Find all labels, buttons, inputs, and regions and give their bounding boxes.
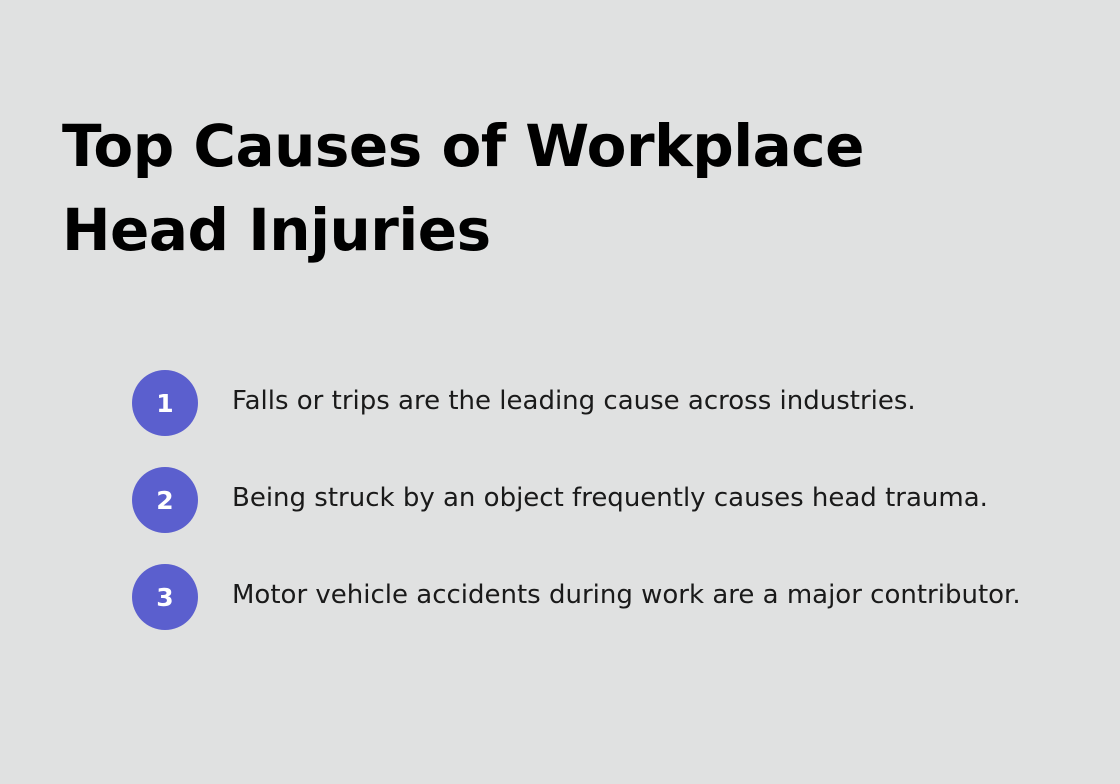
title-block: Top Causes of Workplace Head Injuries	[62, 104, 1062, 272]
point-number-badge: 3	[132, 564, 198, 630]
list-item: 2 Being struck by an object frequently c…	[132, 467, 1052, 533]
point-text: Motor vehicle accidents during work are …	[232, 564, 1022, 617]
point-number-badge: 1	[132, 370, 198, 436]
slide-canvas: Top Causes of Workplace Head Injuries 1 …	[0, 0, 1120, 784]
numbered-points-list: 1 Falls or trips are the leading cause a…	[132, 370, 1052, 630]
list-item: 3 Motor vehicle accidents during work ar…	[132, 564, 1052, 630]
point-text: Falls or trips are the leading cause acr…	[232, 370, 1022, 423]
point-text: Being struck by an object frequently cau…	[232, 467, 1022, 520]
list-item: 1 Falls or trips are the leading cause a…	[132, 370, 1052, 436]
point-number-badge: 2	[132, 467, 198, 533]
page-title: Top Causes of Workplace Head Injuries	[62, 104, 1047, 272]
